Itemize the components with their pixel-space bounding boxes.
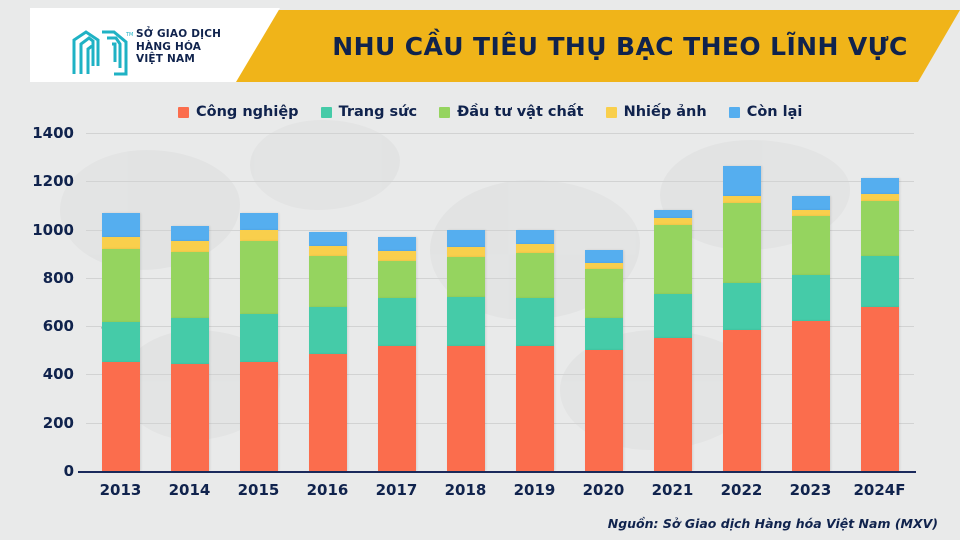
trademark-mark: TM [126,32,133,38]
bar-segment[interactable] [654,218,692,225]
x-tick-label: 2023 [772,481,850,499]
bar-stack-2019[interactable] [516,230,554,471]
bar-series-container [86,133,914,471]
page-header: TM SỞ GIAO DỊCH HÀNG HÓA VIỆT NAM NHU CẦ… [0,0,960,92]
bar-segment[interactable] [654,225,692,294]
bar-segment[interactable] [240,362,278,471]
y-tick-label: 1400 [32,124,74,142]
bar-stack-2022[interactable] [723,166,761,471]
bar-segment[interactable] [171,318,209,364]
legend-item-3[interactable]: Nhiếp ảnh [606,104,707,120]
bar-stack-2014[interactable] [171,226,209,471]
bar-segment[interactable] [792,196,830,210]
bar-segment[interactable] [585,350,623,471]
brand-line-3: VIỆT NAM [136,53,266,66]
x-tick-label: 2013 [82,481,160,499]
bar-segment[interactable] [792,216,830,275]
x-tick-label: 2019 [496,481,574,499]
x-tick-label: 2017 [358,481,436,499]
bar-segment[interactable] [447,297,485,346]
bar-stack-2015[interactable] [240,213,278,471]
chart-page: TM SỞ GIAO DỊCH HÀNG HÓA VIỆT NAM NHU CẦ… [0,0,960,540]
legend-swatch-icon [178,107,189,118]
bar-segment[interactable] [102,322,140,362]
bar-segment[interactable] [240,213,278,230]
x-tick-label: 2024F [841,481,919,499]
legend-item-1[interactable]: Trang sức [321,104,418,120]
chart-plot-area: Đơn vị: Triệu Ounce 14001200100080060040… [86,133,914,471]
bar-stack-2018[interactable] [447,230,485,471]
bar-segment[interactable] [861,307,899,471]
bar-segment[interactable] [585,318,623,350]
y-tick-label: 1000 [32,221,74,239]
bar-segment[interactable] [171,252,209,318]
bar-segment[interactable] [654,210,692,218]
bar-segment[interactable] [723,203,761,283]
legend-label: Nhiếp ảnh [624,104,707,120]
legend-swatch-icon [606,107,617,118]
bar-segment[interactable] [723,166,761,195]
x-tick-label: 2022 [703,481,781,499]
y-tick-label: 800 [43,269,74,287]
bar-segment[interactable] [378,261,416,298]
bar-segment[interactable] [585,250,623,263]
bar-segment[interactable] [309,354,347,471]
bar-stack-2016[interactable] [309,232,347,471]
bar-segment[interactable] [516,253,554,298]
bar-segment[interactable] [723,330,761,471]
bar-segment[interactable] [861,256,899,307]
bar-segment[interactable] [309,256,347,306]
bar-segment[interactable] [309,232,347,246]
bar-segment[interactable] [792,275,830,321]
brand-logo-card: TM SỞ GIAO DỊCH HÀNG HÓA VIỆT NAM [30,8,280,82]
bar-segment[interactable] [171,241,209,252]
bar-stack-2021[interactable] [654,210,692,471]
bar-segment[interactable] [378,298,416,346]
legend-swatch-icon [439,107,450,118]
bar-segment[interactable] [102,249,140,321]
bar-segment[interactable] [240,241,278,314]
bar-stack-2024F[interactable] [861,178,899,471]
bar-segment[interactable] [309,246,347,256]
x-axis-line [78,471,916,473]
y-tick-label: 200 [43,414,74,432]
bar-stack-2017[interactable] [378,237,416,471]
bar-segment[interactable] [516,346,554,471]
bar-segment[interactable] [102,213,140,237]
bar-segment[interactable] [240,230,278,241]
bar-stack-2013[interactable] [102,213,140,471]
bar-segment[interactable] [447,247,485,256]
legend-swatch-icon [321,107,332,118]
legend-item-0[interactable]: Công nghiệp [178,104,299,120]
legend-label: Công nghiệp [196,104,299,120]
x-tick-label: 2020 [565,481,643,499]
bar-segment[interactable] [792,210,830,217]
bar-segment[interactable] [723,196,761,203]
x-tick-label: 2016 [289,481,367,499]
brand-line-1: SỞ GIAO DỊCH [136,28,266,41]
brand-name: SỞ GIAO DỊCH HÀNG HÓA VIỆT NAM [136,28,266,66]
bar-segment[interactable] [654,338,692,472]
bar-segment[interactable] [792,321,830,471]
y-tick-label: 600 [43,317,74,335]
bar-segment[interactable] [447,230,485,247]
bar-segment[interactable] [516,298,554,347]
source-note: Nguồn: Sở Giao dịch Hàng hóa Việt Nam (M… [608,516,938,531]
bar-segment[interactable] [723,283,761,330]
bar-segment[interactable] [516,230,554,244]
bar-segment[interactable] [102,362,140,471]
bar-segment[interactable] [309,307,347,354]
mxv-logo-icon [72,30,128,76]
chart-legend: Công nghiệpTrang sứcĐầu tư vật chấtNhiếp… [178,101,798,123]
x-tick-label: 2015 [220,481,298,499]
bar-segment[interactable] [516,244,554,252]
bar-segment[interactable] [585,269,623,318]
legend-swatch-icon [729,107,740,118]
bar-segment[interactable] [378,237,416,252]
brand-line-2: HÀNG HÓA [136,41,266,54]
bar-segment[interactable] [378,251,416,261]
x-tick-label: 2021 [634,481,712,499]
y-tick-label: 1200 [32,172,74,190]
bar-segment[interactable] [378,346,416,471]
bar-stack-2023[interactable] [792,196,830,471]
bar-segment[interactable] [447,346,485,471]
legend-item-4[interactable]: Còn lại [729,104,803,120]
y-tick-label: 0 [64,462,74,480]
bar-segment[interactable] [447,257,485,298]
legend-label: Đầu tư vật chất [457,104,583,120]
bar-stack-2020[interactable] [585,250,623,471]
y-tick-label: 400 [43,365,74,383]
legend-label: Trang sức [339,104,418,120]
bar-segment[interactable] [240,314,278,362]
page-title: NHU CẦU TIÊU THỤ BẠC THEO LĨNH VỰC [300,10,940,82]
bar-segment[interactable] [861,178,899,194]
bar-segment[interactable] [171,364,209,471]
legend-label: Còn lại [747,104,803,120]
x-tick-label: 2014 [151,481,229,499]
bar-segment[interactable] [861,201,899,256]
bar-segment[interactable] [654,294,692,338]
bar-segment[interactable] [171,226,209,241]
legend-item-2[interactable]: Đầu tư vật chất [439,104,583,120]
x-tick-label: 2018 [427,481,505,499]
bar-segment[interactable] [102,237,140,249]
